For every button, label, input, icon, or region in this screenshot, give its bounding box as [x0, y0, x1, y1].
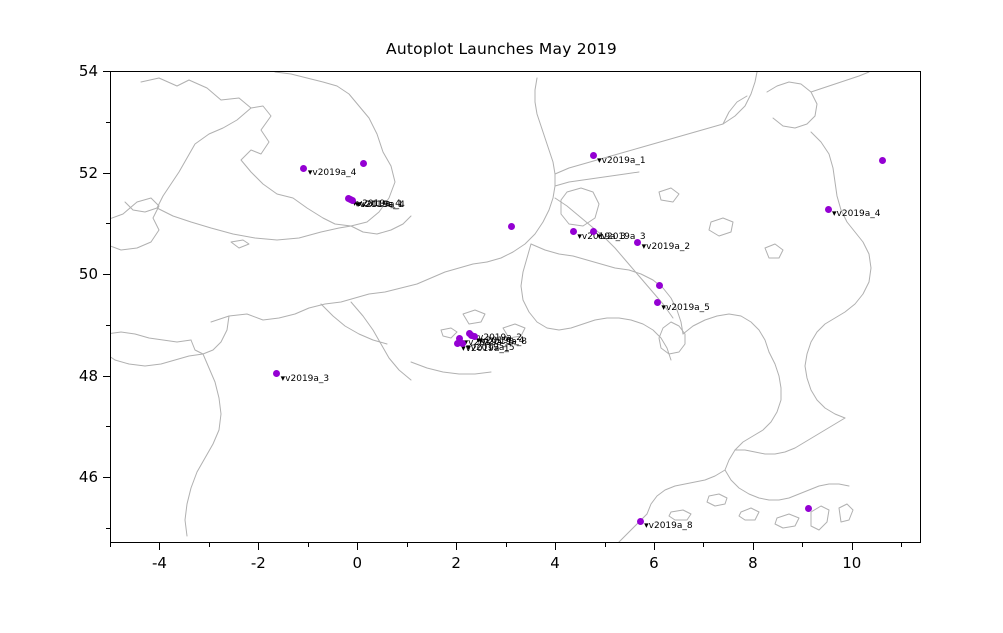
y-axis-tick — [103, 71, 110, 72]
data-point-label: ▾v2019a_4 — [832, 210, 881, 219]
x-axis-tick-label: 8 — [748, 554, 758, 572]
x-axis-minor-tick — [605, 543, 606, 547]
data-point[interactable] — [300, 165, 307, 172]
data-point[interactable] — [879, 157, 886, 164]
x-axis-minor-tick — [110, 543, 111, 547]
x-axis-tick — [555, 543, 556, 550]
x-axis-tick-label: -2 — [251, 554, 266, 572]
page-title: Autoplot Launches May 2019 — [0, 40, 1003, 58]
x-axis-minor-tick — [901, 543, 902, 547]
x-axis-tick — [258, 543, 259, 550]
x-axis-tick — [456, 543, 457, 550]
data-point[interactable] — [590, 152, 597, 159]
x-axis-tick-label: 0 — [352, 554, 362, 572]
y-axis-minor-tick — [106, 325, 110, 326]
x-axis-minor-tick — [506, 543, 507, 547]
y-axis-tick-label: 50 — [62, 265, 98, 283]
data-point[interactable] — [634, 239, 641, 246]
data-point[interactable] — [360, 160, 367, 167]
data-point[interactable] — [656, 282, 663, 289]
x-axis-tick — [852, 543, 853, 550]
data-point-label: ▾v2019a_1 — [597, 157, 646, 166]
x-axis-minor-tick — [209, 543, 210, 547]
data-point[interactable] — [654, 299, 661, 306]
data-point-label: ▾v2019a_8 — [644, 522, 693, 531]
x-axis-tick — [753, 543, 754, 550]
data-point[interactable] — [590, 228, 597, 235]
data-point[interactable] — [570, 228, 577, 235]
y-axis-minor-tick — [106, 223, 110, 224]
y-axis-tick-label: 46 — [62, 468, 98, 486]
data-point-label: ▾v2019a_3 — [281, 375, 330, 384]
data-point-label: ▾v2019a_5 — [661, 304, 710, 313]
data-point[interactable] — [273, 370, 280, 377]
y-axis-tick — [103, 477, 110, 478]
x-axis-tick — [654, 543, 655, 550]
data-point[interactable] — [805, 505, 812, 512]
data-points-layer: ▾v2019a_4▾v2019a_4▾v2019a_1▾v2019a_4▾v20… — [111, 72, 921, 543]
data-point-label: ▾v2019a_4 — [356, 201, 405, 210]
data-point[interactable] — [637, 518, 644, 525]
data-point-label: ▾v2019a_2 — [642, 243, 691, 252]
x-axis-tick-label: 10 — [842, 554, 861, 572]
x-axis-tick-label: 2 — [451, 554, 461, 572]
y-axis-tick-label: 54 — [62, 62, 98, 80]
x-axis-minor-tick — [308, 543, 309, 547]
x-axis-tick-label: -4 — [152, 554, 167, 572]
x-axis-tick-label: 6 — [649, 554, 659, 572]
data-point[interactable] — [459, 340, 466, 347]
y-axis-minor-tick — [106, 426, 110, 427]
x-axis-minor-tick — [703, 543, 704, 547]
y-axis-tick — [103, 173, 110, 174]
x-axis-minor-tick — [407, 543, 408, 547]
x-axis-tick — [159, 543, 160, 550]
x-axis-tick-label: 4 — [550, 554, 560, 572]
data-point[interactable] — [825, 206, 832, 213]
y-axis-tick-label: 48 — [62, 367, 98, 385]
y-axis-tick — [103, 376, 110, 377]
plot-area[interactable]: ▾v2019a_4▾v2019a_4▾v2019a_1▾v2019a_4▾v20… — [110, 71, 921, 543]
y-axis-tick-label: 52 — [62, 164, 98, 182]
x-axis-minor-tick — [802, 543, 803, 547]
data-point[interactable] — [508, 223, 515, 230]
data-point[interactable] — [349, 197, 356, 204]
data-point-label: ▾v2019a_4 — [308, 169, 357, 178]
y-axis-minor-tick — [106, 528, 110, 529]
y-axis-minor-tick — [106, 122, 110, 123]
figure-canvas: Autoplot Launches May 2019 — [0, 0, 1003, 633]
data-point-label: ▾v2019a_5 — [466, 344, 515, 353]
x-axis-tick — [357, 543, 358, 550]
y-axis-tick — [103, 274, 110, 275]
